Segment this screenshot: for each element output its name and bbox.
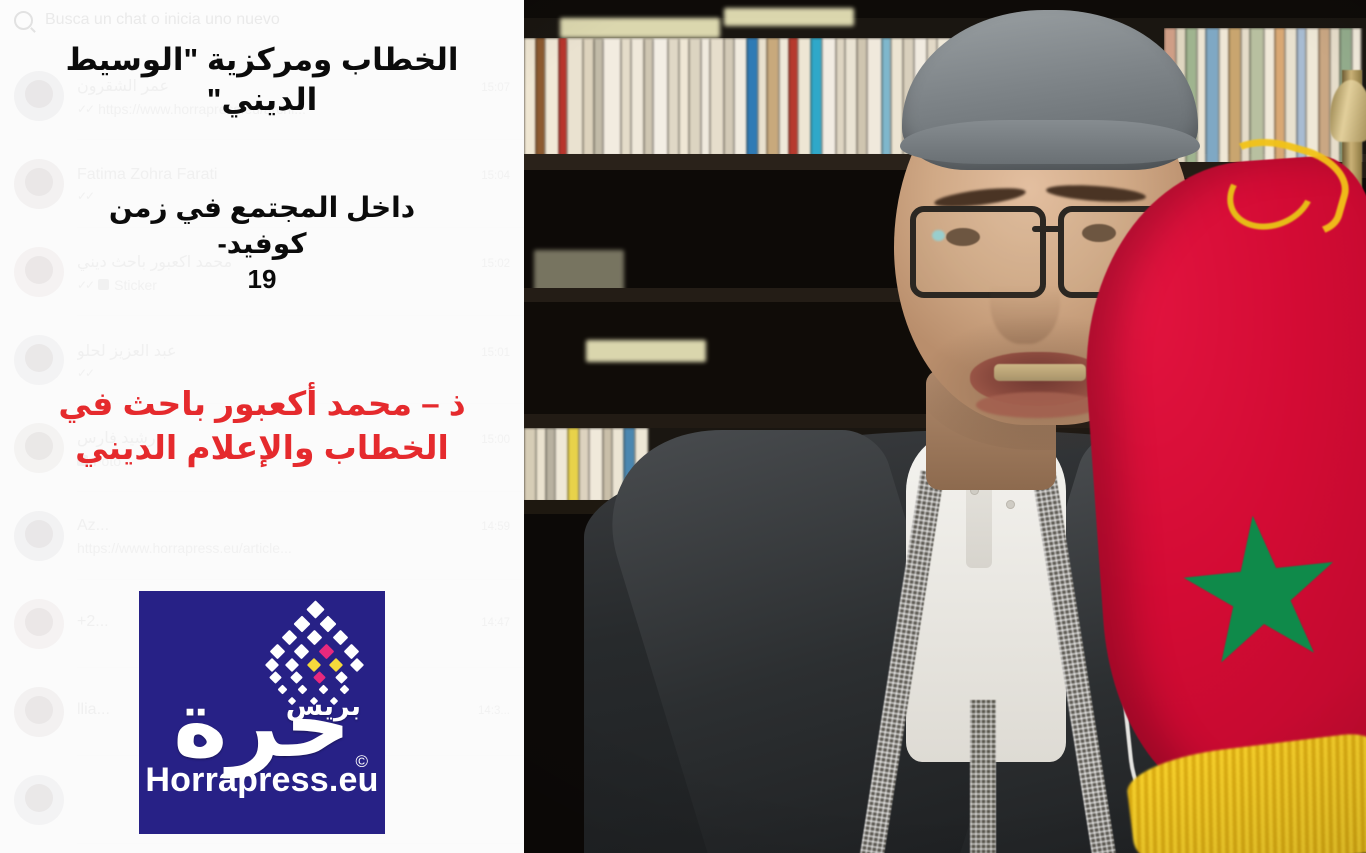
horrapress-logo: بريس حرة © Horrapress.eu <box>139 591 385 834</box>
slide-subtitle: داخل المجتمع في زمن كوفيد- 19 <box>12 190 512 297</box>
speaker-credit: ذ – محمد أكعبور باحث في الخطاب والإعلام … <box>14 382 510 470</box>
screenshot-canvas: Busca un chat o inicia uno nuevo عمر الش… <box>0 0 1366 853</box>
logo-arabic-wordmark: حرة <box>139 679 385 771</box>
logo-latin-wordmark: Horrapress.eu <box>139 761 385 800</box>
slide-subtitle-line2: كوفيد- <box>217 228 306 259</box>
eyeglass-bridge <box>1032 226 1062 232</box>
flag-finial <box>1330 80 1366 142</box>
moroccan-flag: ★ <box>1076 70 1366 853</box>
slide-subtitle-line1: داخل المجتمع في زمن <box>109 192 415 223</box>
page-title: الخطاب ومركزية "الوسيط الديني" <box>12 40 512 121</box>
video-frame: ★ <box>524 0 1366 853</box>
shirt-button <box>1006 500 1015 509</box>
jacket-trim-center <box>970 700 996 853</box>
teeth <box>994 364 1086 381</box>
slide-subtitle-number: 19 <box>12 263 512 297</box>
pentagram-icon: ★ <box>1157 491 1366 700</box>
nose <box>990 248 1060 344</box>
